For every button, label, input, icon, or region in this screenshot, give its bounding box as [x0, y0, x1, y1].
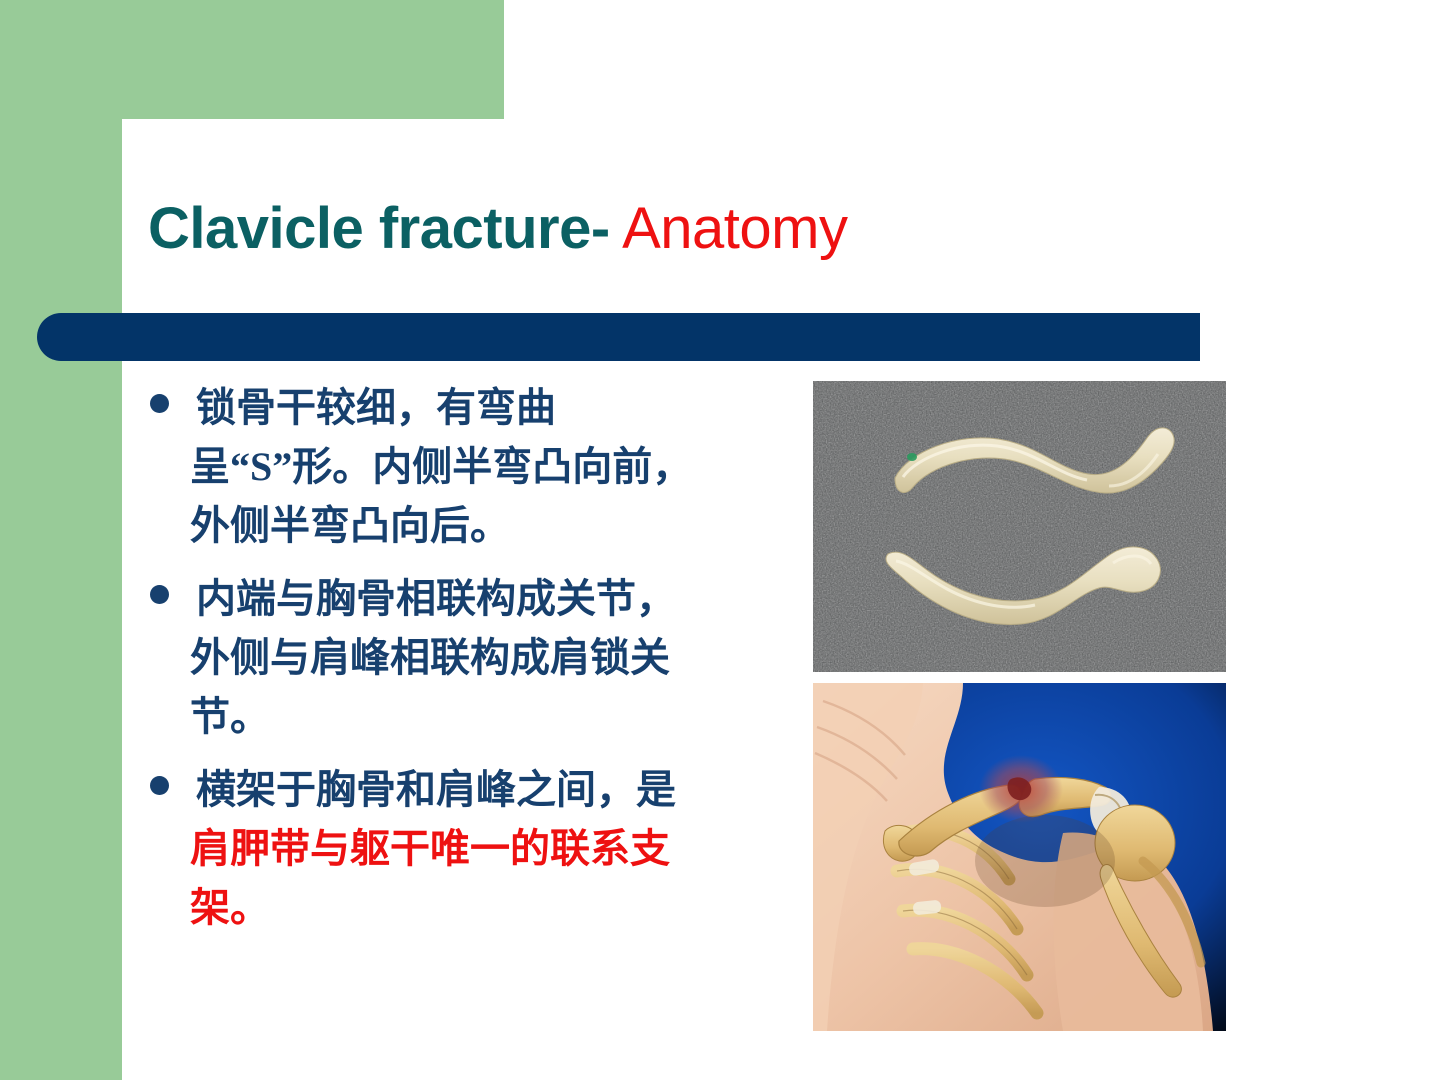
page-title-main: Clavicle fracture- [148, 196, 610, 261]
bullet-dot-icon [150, 776, 169, 795]
green-header-block [0, 0, 504, 119]
navy-title-divider-bar [37, 313, 1200, 361]
bullet-text: 锁骨干较细，有弯曲呈“S”形。内侧半弯凸向前，外侧半弯凸向后。 [190, 378, 710, 555]
green-left-sidebar [0, 0, 122, 1080]
bullet-text-blue: 锁骨干较细，有弯曲呈“S”形。内侧半弯凸向前，外侧半弯凸向后。 [190, 385, 692, 548]
page-title: Clavicle fracture- Anatomy [148, 194, 847, 264]
bullet-dot-icon [150, 585, 169, 604]
bullet-text: 内端与胸骨相联构成关节，外侧与肩峰相联构成肩锁关节。 [190, 569, 710, 746]
slide-canvas: Clavicle fracture- Anatomy 锁骨干较细，有弯曲呈“S”… [0, 0, 1440, 1080]
bullet-text-blue: 内端与胸骨相联构成关节，外侧与肩峰相联构成肩锁关节。 [190, 576, 676, 739]
list-item: 内端与胸骨相联构成关节，外侧与肩峰相联构成肩锁关节。 [150, 569, 710, 746]
bullet-dot-icon [150, 394, 169, 413]
page-title-accent: Anatomy [610, 196, 848, 261]
list-item: 横架于胸骨和肩峰之间，是肩胛带与躯干唯一的联系支架。 [150, 760, 710, 937]
list-item: 锁骨干较细，有弯曲呈“S”形。内侧半弯凸向前，外侧半弯凸向后。 [150, 378, 710, 555]
bullet-list: 锁骨干较细，有弯曲呈“S”形。内侧半弯凸向前，外侧半弯凸向后。 内端与胸骨相联构… [150, 378, 710, 951]
bullet-text: 横架于胸骨和肩峰之间，是肩胛带与躯干唯一的联系支架。 [190, 760, 710, 937]
clavicle-bones-photo [813, 381, 1226, 672]
bullet-text-blue: 横架于胸骨和肩峰之间，是 [196, 767, 676, 812]
bullet-text-red: 肩胛带与躯干唯一的联系支架。 [190, 826, 670, 930]
shoulder-anatomy-illustration [813, 683, 1226, 1031]
